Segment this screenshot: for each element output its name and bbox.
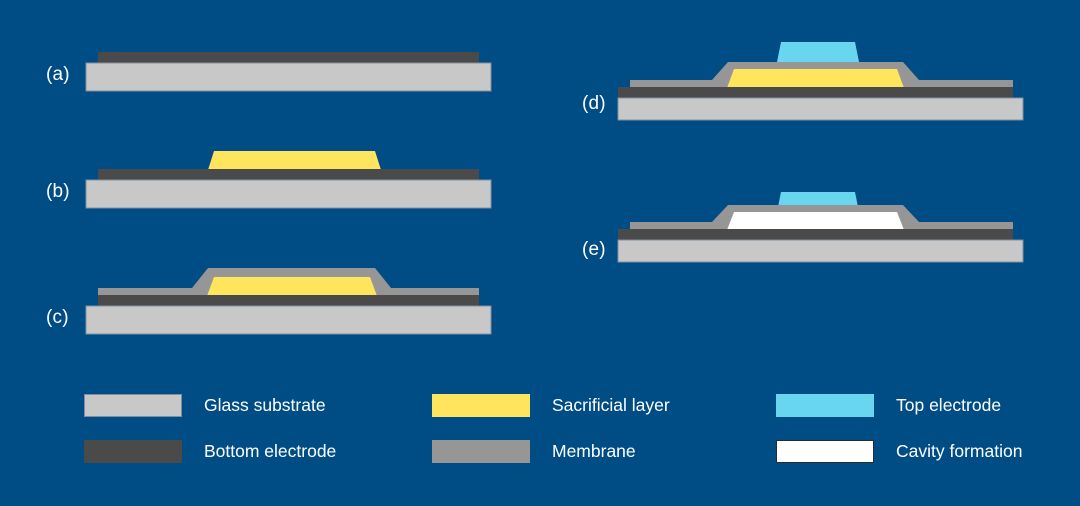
legend-label-glass-substrate: Glass substrate <box>204 395 326 416</box>
legend-label-cavity-formation: Cavity formation <box>896 441 1022 462</box>
panel-label-b: (b) <box>46 181 70 203</box>
legend-label-sacrificial-layer: Sacrificial layer <box>552 395 670 416</box>
panel-c-sacrificial-layer <box>207 277 377 296</box>
panel-d-bottom-electrode <box>618 87 1013 98</box>
legend-label-membrane: Membrane <box>552 441 636 462</box>
panel-e-glass-substrate <box>618 240 1023 262</box>
process-diagram-canvas <box>0 0 1080 506</box>
legend-swatch-top-electrode <box>776 394 874 417</box>
panel-e-bottom-electrode <box>618 229 1013 240</box>
legend-item-membrane: Membrane <box>432 440 636 463</box>
legend-swatch-membrane <box>432 440 530 463</box>
panel-b-sacrificial-layer <box>208 151 381 170</box>
legend-label-top-electrode: Top electrode <box>896 395 1001 416</box>
panel-b-glass-substrate <box>86 180 491 208</box>
panel-e-graphic <box>618 192 1023 262</box>
panel-label-e: (e) <box>582 239 606 261</box>
legend-item-top-electrode: Top electrode <box>776 394 1001 417</box>
legend-swatch-bottom-electrode <box>84 440 182 463</box>
legend-item-sacrificial-layer: Sacrificial layer <box>432 394 670 417</box>
legend-item-bottom-electrode: Bottom electrode <box>84 440 336 463</box>
legend-swatch-cavity-formation <box>776 440 874 463</box>
panel-e-cavity <box>727 212 904 230</box>
panel-c-glass-substrate <box>86 306 491 334</box>
panel-a-glass-substrate <box>86 63 491 91</box>
panel-d-sacrificial-layer <box>727 69 904 88</box>
panel-d-glass-substrate <box>618 98 1023 120</box>
legend-item-glass-substrate: Glass substrate <box>84 394 326 417</box>
panel-b-graphic <box>86 151 491 208</box>
panel-d-top-electrode <box>777 42 859 62</box>
legend-swatch-sacrificial-layer <box>432 394 530 417</box>
panel-b-bottom-electrode <box>98 169 479 180</box>
panel-d-graphic <box>618 42 1023 120</box>
panel-c-bottom-electrode <box>98 295 479 306</box>
panel-c-graphic <box>86 268 491 334</box>
panel-label-a: (a) <box>46 64 70 86</box>
panel-a-graphic <box>86 52 491 91</box>
panel-label-c: (c) <box>46 307 69 329</box>
legend-item-cavity-formation: Cavity formation <box>776 440 1022 463</box>
legend-swatch-glass-substrate <box>84 394 182 417</box>
panel-label-d: (d) <box>582 93 606 115</box>
legend-label-bottom-electrode: Bottom electrode <box>204 441 336 462</box>
panel-a-bottom-electrode <box>98 52 479 63</box>
process-flow-figure: (a) (b) (c) (d) (e) Glass substrate Bott… <box>0 0 1080 506</box>
